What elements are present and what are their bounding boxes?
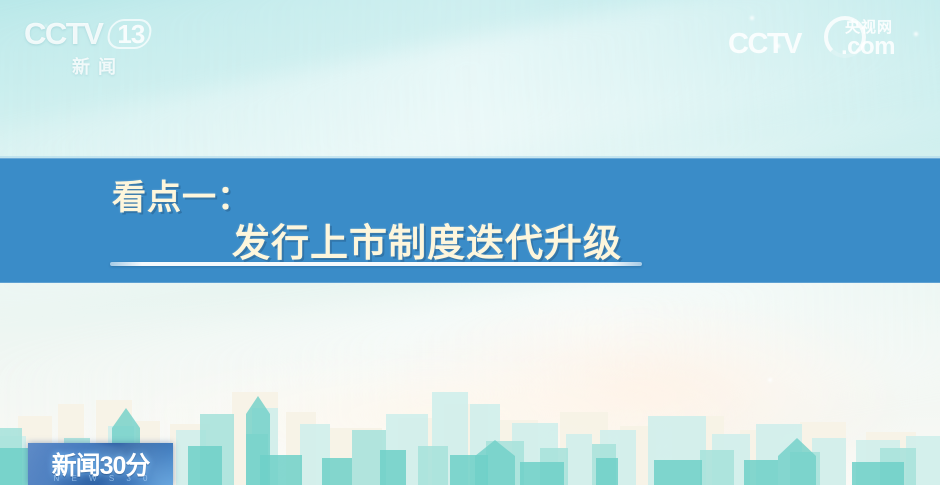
watermark-chinese-text: 央视网	[845, 16, 893, 37]
skyline-building	[700, 450, 734, 485]
skyline-building	[592, 444, 616, 485]
skyline-building	[486, 441, 524, 485]
skyline-building	[352, 430, 386, 485]
skyline-building	[672, 416, 724, 485]
skyline-building	[380, 450, 406, 485]
skyline-building	[866, 432, 916, 485]
sparkle-dot	[768, 378, 772, 382]
skyline-peaked-building	[475, 440, 515, 485]
skyline-building	[260, 455, 302, 485]
skyline-building	[654, 460, 702, 485]
skyline-building	[852, 462, 904, 485]
skyline-building	[906, 436, 940, 485]
skyline-building	[170, 424, 210, 485]
watermark-brand-text: CCTV	[728, 28, 801, 61]
skyline-building	[744, 460, 778, 485]
program-subtitle-text: N E W S 3 0	[28, 474, 173, 483]
skyline-building	[540, 448, 568, 485]
channel-subtitle-text: 新闻	[24, 53, 164, 79]
skyline-building	[188, 446, 222, 485]
skyline-building	[386, 414, 428, 485]
skyline-building	[0, 436, 26, 485]
skyline-building	[740, 430, 780, 485]
channel-brand-text: CCTV	[24, 16, 102, 52]
skyline-building	[398, 418, 432, 485]
skyline-building	[232, 392, 278, 485]
skyline-building	[880, 448, 916, 485]
program-badge: 新闻30分 N E W S 3 0	[28, 443, 173, 485]
skyline-building	[286, 412, 316, 485]
skyline-building	[450, 455, 488, 485]
channel-number-badge: 13	[108, 18, 151, 51]
skyline-building	[300, 424, 330, 485]
skyline-building	[418, 446, 448, 485]
skyline-building	[322, 458, 352, 485]
skyline-building	[520, 462, 564, 485]
cctv-13-logo: CCTV 13 新闻	[24, 16, 164, 79]
skyline-building	[176, 430, 206, 485]
headline-line-1: 看点一：	[112, 170, 252, 219]
cctv-com-watermark: CCTV .com 央视网	[728, 14, 918, 60]
skyline-building	[712, 434, 750, 485]
skyline-building	[856, 440, 900, 485]
skyline-building	[600, 430, 636, 485]
skyline-peaked-building	[246, 396, 270, 485]
skyline-building	[500, 420, 538, 485]
skyline-building	[330, 428, 382, 485]
skyline-building	[470, 404, 500, 485]
skyline-peaked-layer	[112, 396, 816, 485]
warm-glow-center	[120, 355, 740, 475]
skyline-building	[246, 434, 268, 485]
warm-glow-right	[380, 300, 900, 485]
skyline-building	[444, 404, 488, 485]
skyline-building	[200, 414, 234, 485]
broadcast-screen: CCTV 13 新闻 CCTV .com 央视网 看点一： 发行上市制度迭代升级…	[0, 0, 940, 485]
skyline-building	[0, 428, 22, 485]
skyline-building	[800, 422, 846, 485]
skyline-building	[812, 438, 846, 485]
channel-logo-row-brand: CCTV 13	[24, 16, 164, 52]
headline-banner: 看点一： 发行上市制度迭代升级	[0, 158, 940, 283]
headline-line-2: 发行上市制度迭代升级	[232, 212, 622, 267]
skyline-building	[756, 424, 802, 485]
skyline-peaked-building	[778, 438, 816, 485]
skyline-building	[596, 458, 618, 485]
skyline-building	[560, 412, 608, 485]
channel-number-text: 13	[117, 19, 144, 49]
skyline-building	[512, 423, 558, 485]
headline-underline	[110, 262, 642, 266]
skyline-building	[566, 434, 592, 485]
skyline-building	[790, 452, 820, 485]
skyline-building	[432, 392, 468, 485]
watermark-domain-text: .com	[841, 33, 895, 61]
skyline-building	[620, 426, 656, 485]
skyline-building	[648, 416, 706, 485]
skyline-building	[252, 408, 278, 485]
